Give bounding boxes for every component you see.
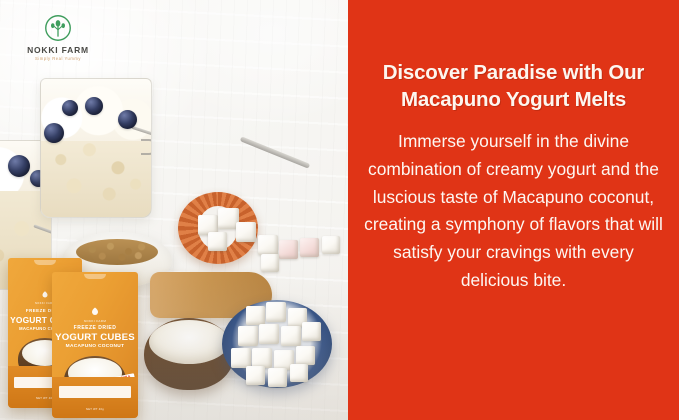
blueberry [8, 155, 30, 177]
yogurt-cube [302, 322, 321, 341]
blueberry [118, 110, 137, 129]
leaf-icon [89, 306, 101, 318]
jar-granola [41, 135, 151, 217]
yogurt-cube [259, 324, 279, 344]
body-copy: Immerse yourself in the divine combinati… [359, 128, 668, 294]
yogurt-cube [266, 302, 286, 322]
yogurt-cube [236, 222, 256, 242]
pouch-hang-notch [84, 274, 106, 279]
yogurt-cube [252, 348, 272, 368]
yogurt-cube [246, 306, 265, 325]
yogurt-cube [268, 368, 287, 387]
jar-clasp-ring [141, 139, 152, 155]
brand-logo[interactable]: NOKKI FARM Simply Real Yummy [18, 14, 98, 61]
logo-wordmark: NOKKI FARM [27, 45, 89, 55]
pouch-hang-notch [34, 260, 56, 265]
logo-tagline: Simply Real Yummy [35, 56, 81, 61]
yogurt-cube [231, 348, 251, 368]
product-pouch-front[interactable]: NOKKI FARM FREEZE DRIED YOGURT CUBES MAC… [52, 272, 138, 418]
pouch-line-3: MACAPUNO COCONUT [52, 344, 138, 349]
pouch-line-1: FREEZE DRIED [52, 325, 138, 331]
blueberry [62, 100, 78, 116]
yogurt-cube [290, 364, 308, 382]
blueberry [44, 123, 64, 143]
yogurt-cube [300, 238, 319, 257]
yogurt-cube [279, 240, 298, 259]
yogurt-cube [246, 366, 265, 385]
product-photo-panel: NOKKI FARM FREEZE DRIED YOGURT CUBES MAC… [0, 0, 348, 420]
leaf-icon [40, 290, 50, 300]
metal-spoon [240, 136, 310, 168]
pouch-info-window [59, 386, 131, 398]
headline: Discover Paradise with Our Macapuno Yogu… [359, 60, 668, 113]
promo-banner: NOKKI FARM FREEZE DRIED YOGURT CUBES MAC… [0, 0, 679, 420]
blueberry [85, 97, 103, 115]
yogurt-cube [238, 326, 258, 346]
yogurt-cube [322, 236, 340, 254]
pouch-brand-line: NOKKI FARM [52, 319, 138, 323]
tree-in-circle-icon [44, 14, 72, 42]
pouch-net-weight: NET WT 40g [52, 408, 138, 411]
coconut-flesh [149, 320, 229, 364]
pouch-line-2: YOGURT CUBES [52, 332, 138, 343]
coconut-half [144, 318, 234, 390]
copy-panel: Discover Paradise with Our Macapuno Yogu… [348, 0, 679, 420]
yogurt-cube [261, 254, 279, 272]
yogurt-cube [208, 232, 227, 251]
yogurt-cube [296, 346, 315, 365]
granola-seeds [76, 239, 158, 265]
yogurt-cube [281, 326, 301, 346]
yogurt-cube [258, 235, 278, 255]
